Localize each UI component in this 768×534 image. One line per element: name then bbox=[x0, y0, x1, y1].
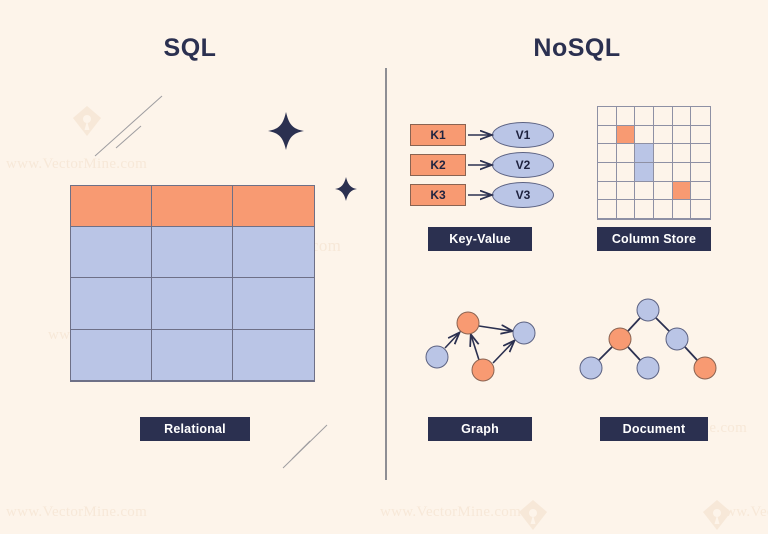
grid-cell bbox=[598, 182, 617, 201]
table-cell bbox=[71, 227, 152, 278]
tree-edge bbox=[628, 318, 640, 331]
value-ellipse-v2: V2 bbox=[492, 152, 554, 178]
graph-edge bbox=[445, 333, 459, 348]
graph-node bbox=[513, 322, 535, 344]
tree-edge bbox=[628, 347, 640, 360]
grid-cell bbox=[635, 182, 654, 201]
table-cell bbox=[152, 278, 233, 329]
label-key-value: Key-Value bbox=[428, 227, 532, 251]
graph-edge bbox=[471, 335, 479, 360]
label-relational: Relational bbox=[140, 417, 250, 441]
tree-node bbox=[666, 328, 688, 350]
tree-node bbox=[637, 357, 659, 379]
table-header-cell bbox=[152, 186, 233, 227]
grid-cell bbox=[654, 144, 673, 163]
table-header-cell bbox=[71, 186, 152, 227]
grid-cell-highlight bbox=[635, 163, 654, 182]
tree-node bbox=[580, 357, 602, 379]
tree-node-root bbox=[637, 299, 659, 321]
grid-cell bbox=[691, 200, 710, 219]
tree-node bbox=[694, 357, 716, 379]
watermark-text: www.VectorMine.com bbox=[6, 504, 147, 521]
label-document: Document bbox=[600, 417, 708, 441]
decorative-line bbox=[116, 126, 141, 148]
table-cell bbox=[233, 278, 314, 329]
grid-cell bbox=[673, 163, 692, 182]
value-ellipse-v3: V3 bbox=[492, 182, 554, 208]
table-cell bbox=[152, 330, 233, 381]
relational-table bbox=[70, 185, 315, 382]
grid-cell bbox=[617, 107, 636, 126]
grid-cell bbox=[673, 144, 692, 163]
decorative-line bbox=[283, 425, 327, 468]
grid-cell-highlight bbox=[635, 144, 654, 163]
graph-edge bbox=[493, 341, 514, 363]
grid-cell bbox=[654, 200, 673, 219]
watermark-text: www.VectorMine.com bbox=[714, 504, 768, 521]
tree-node bbox=[609, 328, 631, 350]
graph-node bbox=[426, 346, 448, 368]
tree-edge bbox=[656, 318, 669, 331]
table-header-cell bbox=[233, 186, 314, 227]
value-ellipse-v1: V1 bbox=[492, 122, 554, 148]
grid-cell bbox=[598, 126, 617, 145]
grid-cell bbox=[598, 107, 617, 126]
table-cell bbox=[71, 330, 152, 381]
grid-cell bbox=[635, 200, 654, 219]
grid-cell bbox=[654, 182, 673, 201]
page-title-sql: SQL bbox=[130, 34, 250, 63]
grid-cell bbox=[654, 126, 673, 145]
key-box-k1: K1 bbox=[410, 124, 466, 146]
table-cell bbox=[233, 227, 314, 278]
label-column-store: Column Store bbox=[597, 227, 711, 251]
tree-edge bbox=[599, 347, 612, 360]
grid-cell bbox=[598, 200, 617, 219]
table-cell bbox=[71, 278, 152, 329]
column-store-grid bbox=[597, 106, 711, 220]
table-cell bbox=[152, 227, 233, 278]
grid-cell bbox=[654, 107, 673, 126]
decorative-line bbox=[95, 96, 162, 156]
page-title-nosql: NoSQL bbox=[512, 34, 642, 63]
grid-cell-highlight bbox=[617, 126, 636, 145]
grid-cell bbox=[673, 200, 692, 219]
graph-edge bbox=[479, 326, 512, 331]
grid-cell bbox=[691, 163, 710, 182]
grid-cell bbox=[691, 107, 710, 126]
graph-node bbox=[472, 359, 494, 381]
grid-cell bbox=[673, 126, 692, 145]
grid-cell bbox=[617, 182, 636, 201]
tree-edge bbox=[685, 347, 697, 360]
graph-node bbox=[457, 312, 479, 334]
infographic-canvas: www.VectorMine.com www.VectorMine.com ww… bbox=[0, 0, 768, 534]
grid-cell bbox=[617, 163, 636, 182]
grid-cell bbox=[691, 144, 710, 163]
label-graph: Graph bbox=[428, 417, 532, 441]
decorative-line bbox=[292, 441, 310, 459]
grid-cell bbox=[691, 126, 710, 145]
grid-cell bbox=[673, 107, 692, 126]
sparkle-icon bbox=[268, 112, 304, 150]
grid-cell bbox=[635, 126, 654, 145]
key-box-k3: K3 bbox=[410, 184, 466, 206]
grid-cell bbox=[635, 107, 654, 126]
sparkle-icon bbox=[335, 177, 357, 201]
watermark-text: www.VectorMine.com bbox=[380, 504, 521, 521]
grid-cell bbox=[691, 182, 710, 201]
grid-cell bbox=[654, 163, 673, 182]
table-cell bbox=[233, 330, 314, 381]
key-box-k2: K2 bbox=[410, 154, 466, 176]
grid-cell bbox=[617, 200, 636, 219]
grid-cell-highlight bbox=[673, 182, 692, 201]
grid-cell bbox=[598, 144, 617, 163]
grid-cell bbox=[598, 163, 617, 182]
watermark-text: www.VectorMine.com bbox=[6, 156, 147, 173]
vertical-divider bbox=[385, 68, 387, 480]
grid-cell bbox=[617, 144, 636, 163]
